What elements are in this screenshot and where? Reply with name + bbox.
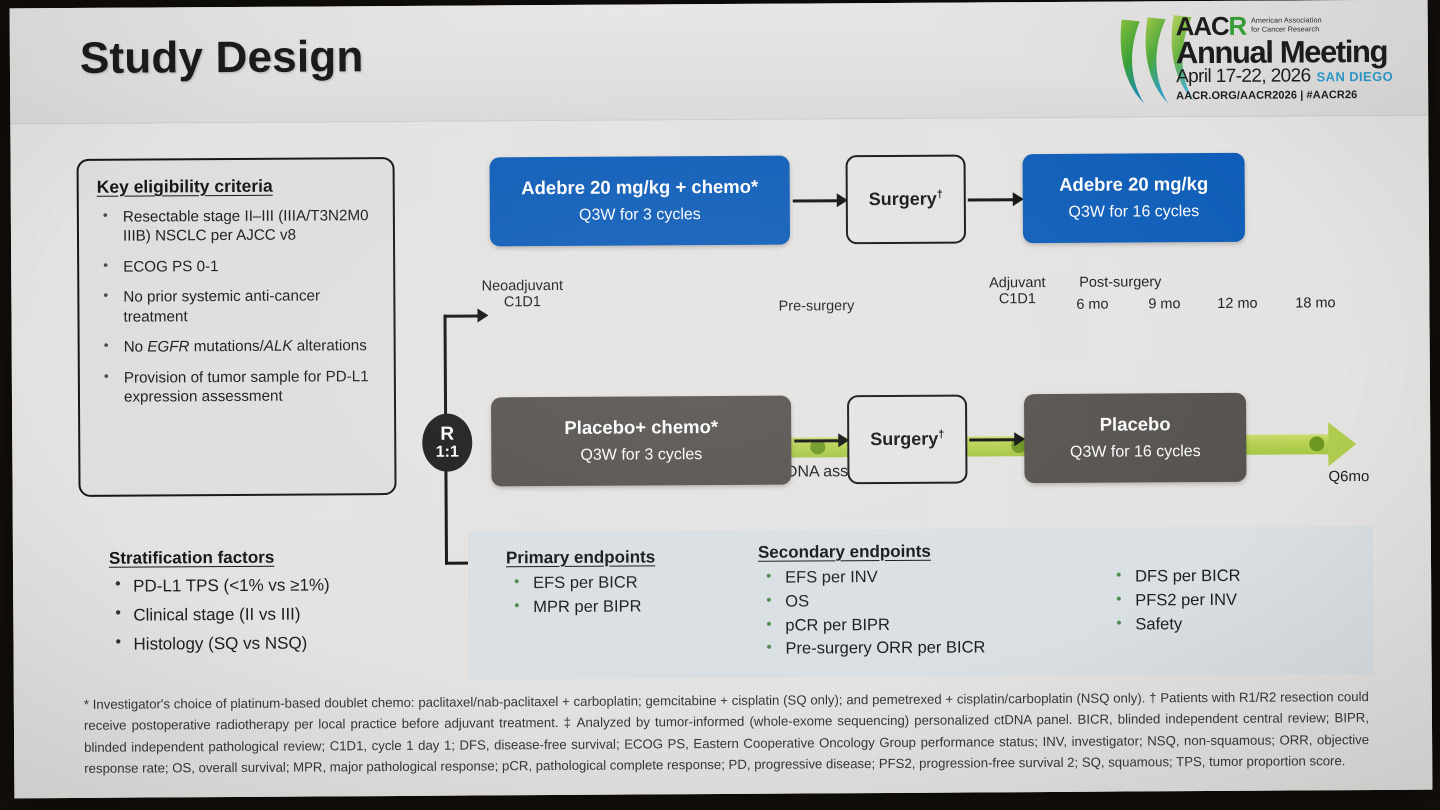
- projected-slide-photo: Study Design: [0, 0, 1440, 810]
- timeline-label: 18 mo: [1295, 295, 1335, 311]
- list-item: MPR per BIPR: [506, 595, 655, 620]
- endpoints-panel: Primary endpoints EFS per BICR MPR per B…: [468, 526, 1374, 680]
- randomization-node: R 1:1: [422, 414, 472, 472]
- surgery-label: Surgery†: [869, 189, 943, 210]
- aacr-fullname: American Association for Cancer Research: [1251, 12, 1322, 33]
- flow-arrow-surgery-to-adjuvant-control: [969, 438, 1016, 441]
- control-surgery-box: Surgery†: [847, 394, 968, 484]
- list-item: Safety: [1108, 612, 1241, 637]
- flow-arrow-surgery-to-adjuvant: [968, 198, 1015, 201]
- stratification-factors-block: Stratification factors PD-L1 TPS (<1% vs…: [109, 547, 470, 662]
- randomization-ratio: 1:1: [436, 444, 459, 460]
- list-item: EFS per BICR: [506, 571, 655, 596]
- box-title: Adebre 20 mg/kg + chemo*: [521, 176, 758, 199]
- experimental-neoadjuvant-box: Adebre 20 mg/kg + chemo* Q3W for 3 cycle…: [490, 156, 791, 247]
- meeting-city: SAN DIEGO: [1317, 69, 1394, 84]
- list-item: No EGFR mutations/ALK alterations: [98, 336, 378, 357]
- control-neoadjuvant-box: Placebo+ chemo* Q3W for 3 cycles: [491, 396, 792, 487]
- list-item: PFS2 per INV: [1108, 589, 1241, 614]
- list-item: Clinical stage (II vs III): [109, 602, 469, 626]
- box-title: Adebre 20 mg/kg: [1059, 173, 1208, 195]
- timeline-label: 6 mo: [1076, 297, 1108, 313]
- aacr-logo-text: AACR American Association for Cancer Res…: [1176, 12, 1415, 102]
- secondary-endpoints-list-2: DFS per BICR PFS2 per INV Safety: [1108, 565, 1241, 637]
- page-title: Study Design: [80, 32, 364, 84]
- arrow-head-icon: [477, 308, 488, 322]
- list-item: Resectable stage II–III (IIIA/T3N2M0 III…: [97, 206, 377, 247]
- flow-arrow-neoadj-to-surgery: [793, 199, 839, 202]
- timeline-label: NeoadjuvantC1D1: [482, 278, 564, 310]
- primary-endpoints-list: EFS per BICR MPR per BIPR: [506, 571, 656, 619]
- slide-body: Key eligibility criteria Resectable stag…: [10, 116, 1432, 799]
- secondary-endpoints-list: EFS per INV OS pCR per BIPR Pre-surgery …: [758, 565, 985, 661]
- randomization-connector-top: [443, 314, 479, 317]
- list-item: No prior systemic anti-cancer treatment: [97, 286, 377, 327]
- list-item: ECOG PS 0-1: [97, 256, 377, 277]
- aacr-url: AACR.ORG/AACR2026 | #AACR26: [1176, 89, 1414, 102]
- control-adjuvant-box: Placebo Q3W for 16 cycles: [1024, 393, 1247, 483]
- timeline-label: 9 mo: [1148, 296, 1180, 312]
- slide: Study Design: [10, 0, 1433, 798]
- secondary-endpoints-column: Secondary endpoints EFS per INV OS pCR p…: [758, 541, 986, 661]
- timeline-dot: [1309, 436, 1324, 451]
- meeting-dates: April 17-22, 2026: [1176, 65, 1311, 88]
- list-item: Provision of tumor sample for PD-L1 expr…: [98, 367, 378, 408]
- stratification-list: PD-L1 TPS (<1% vs ≥1%) Clinical stage (I…: [109, 574, 469, 655]
- list-item: EFS per INV: [758, 565, 985, 590]
- eligibility-list: Resectable stage II–III (IIIA/T3N2M0 III…: [97, 206, 378, 407]
- secondary-endpoints-heading: Secondary endpoints: [758, 541, 985, 562]
- list-item: Pre-surgery ORR per BICR: [758, 637, 985, 662]
- slide-header: Study Design: [10, 0, 1429, 124]
- timeline-end-label: Q6mo: [1328, 468, 1369, 485]
- list-item: OS: [758, 589, 985, 614]
- box-subtitle: Q3W for 3 cycles: [579, 207, 701, 226]
- flow-arrow-neoadj-to-surgery-control: [794, 439, 840, 442]
- annual-meeting-text: Annual Meeting: [1176, 36, 1414, 68]
- list-item: PD-L1 TPS (<1% vs ≥1%): [109, 574, 469, 598]
- box-subtitle: Q3W for 3 cycles: [580, 447, 702, 466]
- secondary-endpoints-column-2: DFS per BICR PFS2 per INV Safety: [1108, 565, 1241, 637]
- box-subtitle: Q3W for 16 cycles: [1070, 444, 1201, 463]
- box-title: Placebo+ chemo*: [564, 416, 718, 438]
- timeline-label: Post-surgery: [1079, 274, 1161, 291]
- experimental-adjuvant-box: Adebre 20 mg/kg Q3W for 16 cycles: [1023, 153, 1246, 243]
- footnotes: * Investigator's choice of platinum-base…: [84, 686, 1369, 779]
- list-item: DFS per BICR: [1108, 565, 1241, 590]
- timeline-label: AdjuvantC1D1: [989, 275, 1046, 307]
- stratification-heading: Stratification factors: [109, 547, 469, 569]
- experimental-surgery-box: Surgery†: [846, 155, 967, 245]
- eligibility-heading: Key eligibility criteria: [97, 175, 377, 198]
- key-eligibility-criteria-box: Key eligibility criteria Resectable stag…: [77, 157, 397, 497]
- timeline-label: 12 mo: [1217, 296, 1257, 312]
- box-title: Placebo: [1100, 413, 1171, 435]
- surgery-label: Surgery†: [870, 429, 944, 450]
- list-item: Histology (SQ vs NSQ): [109, 631, 469, 655]
- randomization-letter: R: [440, 425, 454, 444]
- timeline-label: Pre-surgery: [779, 298, 855, 314]
- primary-endpoints-heading: Primary endpoints: [506, 547, 655, 568]
- list-item: pCR per BIPR: [758, 613, 985, 638]
- aacr-logo: AACR American Association for Cancer Res…: [1114, 6, 1415, 116]
- box-subtitle: Q3W for 16 cycles: [1068, 204, 1199, 223]
- timeline-arrow-icon: [1328, 422, 1356, 466]
- primary-endpoints-column: Primary endpoints EFS per BICR MPR per B…: [506, 547, 656, 619]
- footnote-text: * Investigator's choice of platinum-base…: [84, 686, 1369, 779]
